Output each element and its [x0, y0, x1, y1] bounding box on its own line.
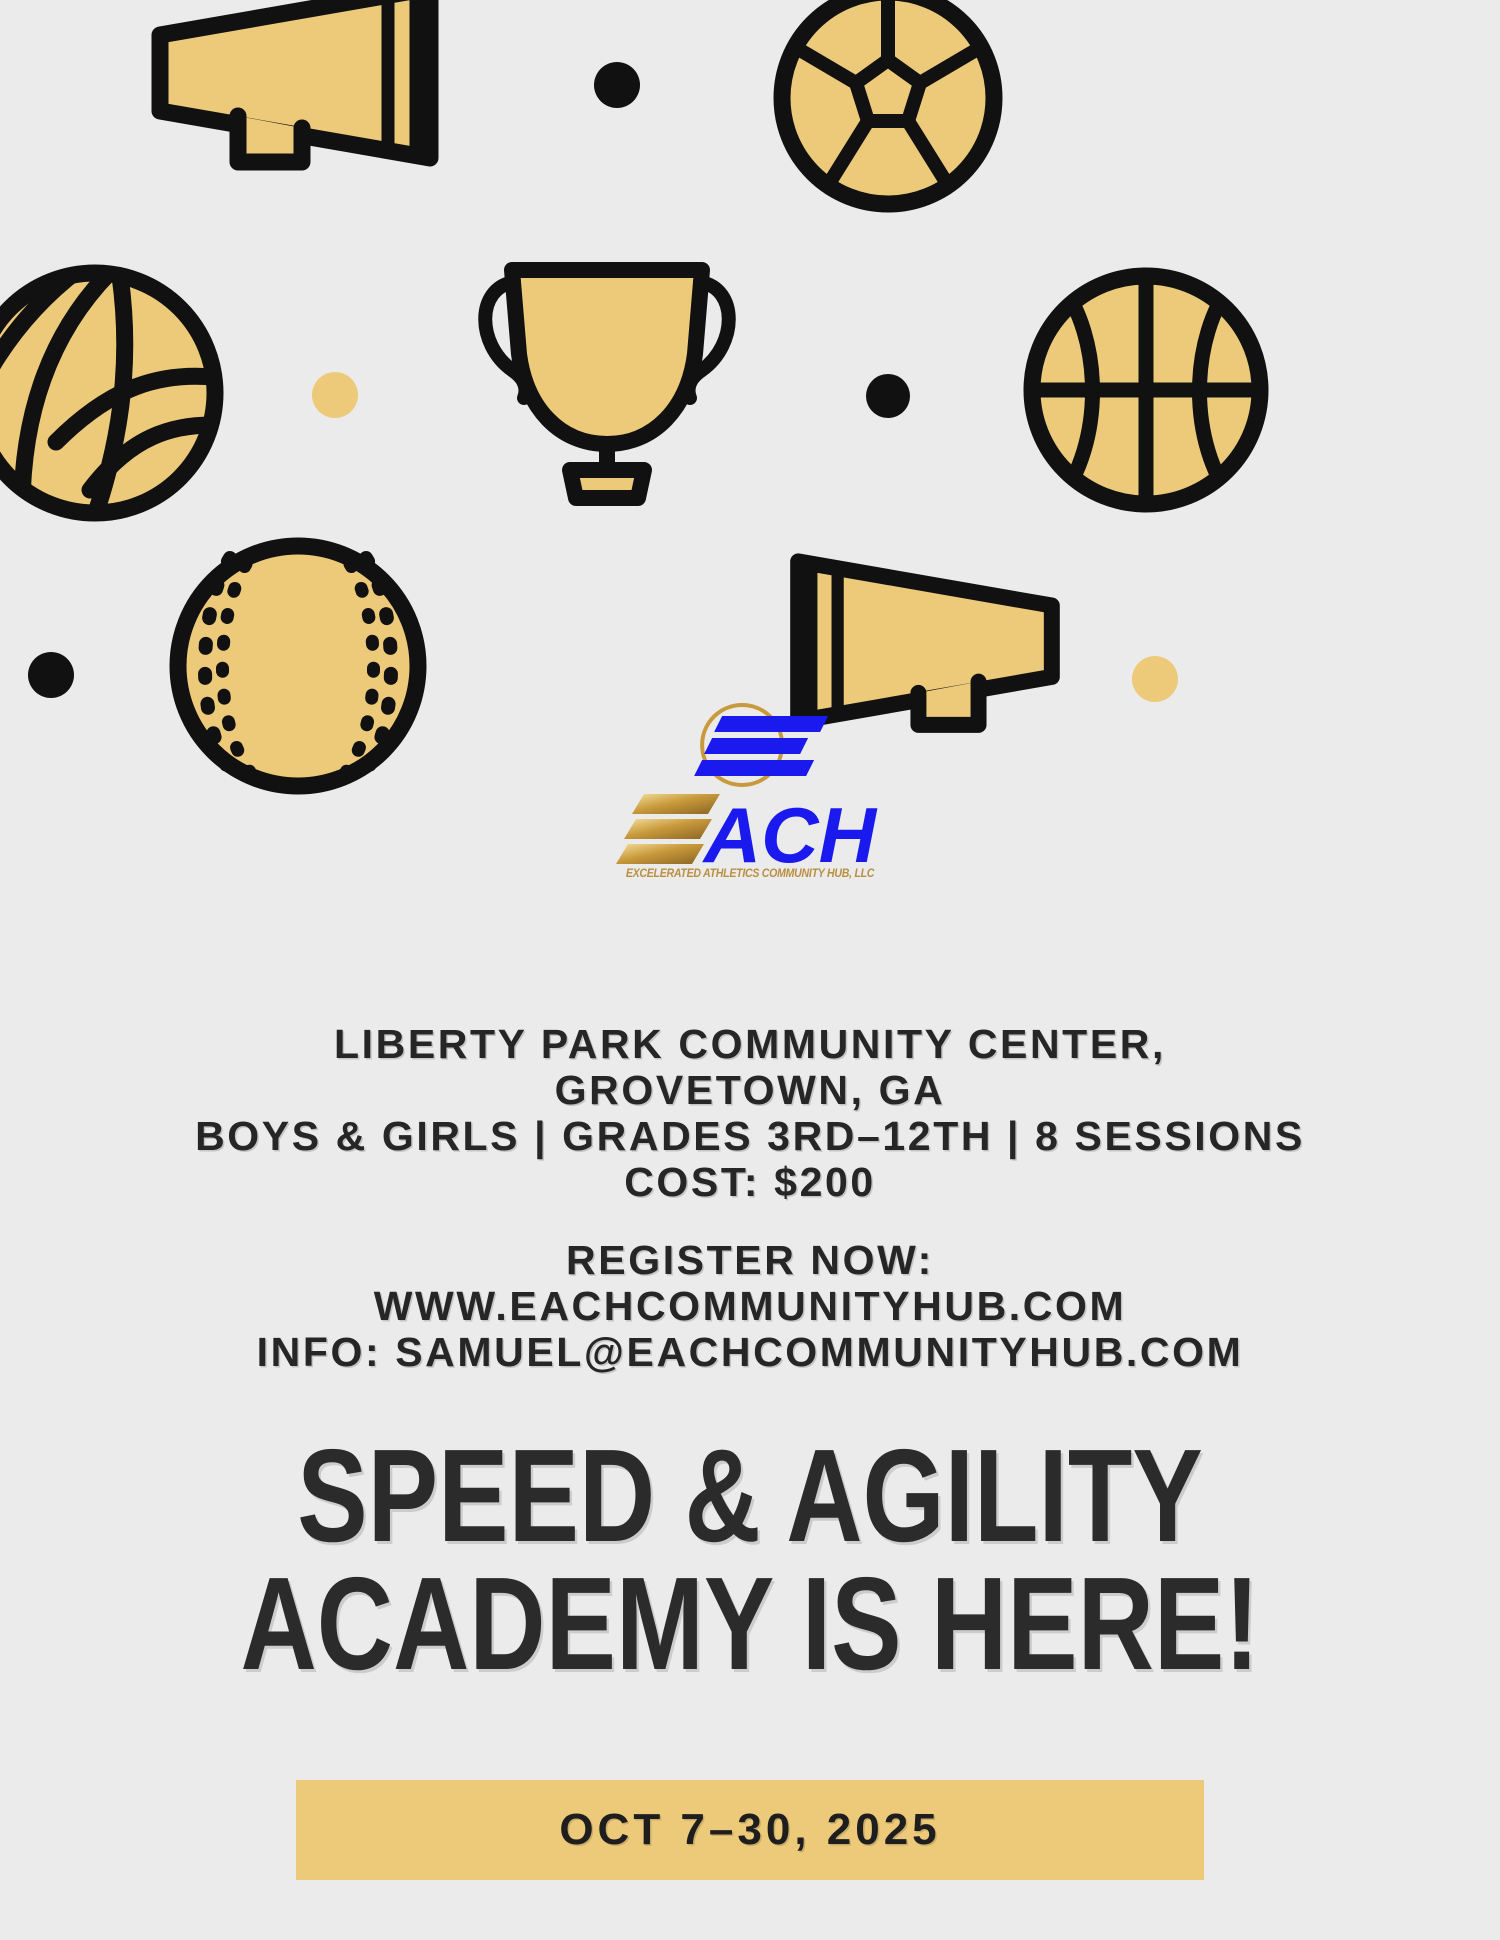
venue-line-2: GROVETOWN, GA: [0, 1068, 1500, 1114]
date-banner: OCT 7–30, 2025: [296, 1780, 1204, 1880]
register-website-link[interactable]: WWW.EACHCOMMUNITYHUB.COM: [0, 1284, 1500, 1330]
register-email-link[interactable]: INFO: SAMUEL@EACHCOMMUNITYHUB.COM: [0, 1330, 1500, 1376]
registration-block: REGISTER NOW: WWW.EACHCOMMUNITYHUB.COM I…: [0, 1238, 1500, 1376]
trophy-icon: [462, 248, 752, 515]
venue-line-1: LIBERTY PARK COMMUNITY CENTER,: [0, 1022, 1500, 1068]
headline-line-2: ACADEMY IS HERE!: [150, 1560, 1350, 1688]
venue-line-4: COST: $200: [0, 1160, 1500, 1206]
dot-black-right: [866, 374, 910, 418]
logo-wordmark: ACH: [600, 788, 900, 873]
logo-tagline: EXCELERATED ATHLETICS COMMUNITY HUB, LLC: [612, 868, 888, 880]
megaphone-icon: [130, 0, 460, 195]
basketball-icon: [1000, 260, 1280, 525]
headline-line-1: SPEED & AGILITY: [150, 1432, 1350, 1560]
date-range-text: OCT 7–30, 2025: [559, 1805, 940, 1855]
volleyball-icon: [0, 258, 230, 533]
logo-ach-text: ACH: [702, 792, 878, 868]
venue-details-block: LIBERTY PARK COMMUNITY CENTER, GROVETOWN…: [0, 1022, 1500, 1206]
brand-logo: ACH EXCELERATED ATHLETICS COMMUNITY HUB,…: [0, 690, 1500, 895]
soccer-ball-icon: [768, 0, 1008, 223]
dot-gold-left: [312, 372, 358, 418]
flyer-poster: ACH EXCELERATED ATHLETICS COMMUNITY HUB,…: [0, 0, 1500, 1940]
dot-black-top: [594, 62, 640, 108]
page-title: SPEED & AGILITY ACADEMY IS HERE!: [0, 1432, 1500, 1688]
register-label: REGISTER NOW:: [0, 1238, 1500, 1284]
venue-line-3: BOYS & GIRLS | GRADES 3RD–12TH | 8 SESSI…: [0, 1114, 1500, 1160]
